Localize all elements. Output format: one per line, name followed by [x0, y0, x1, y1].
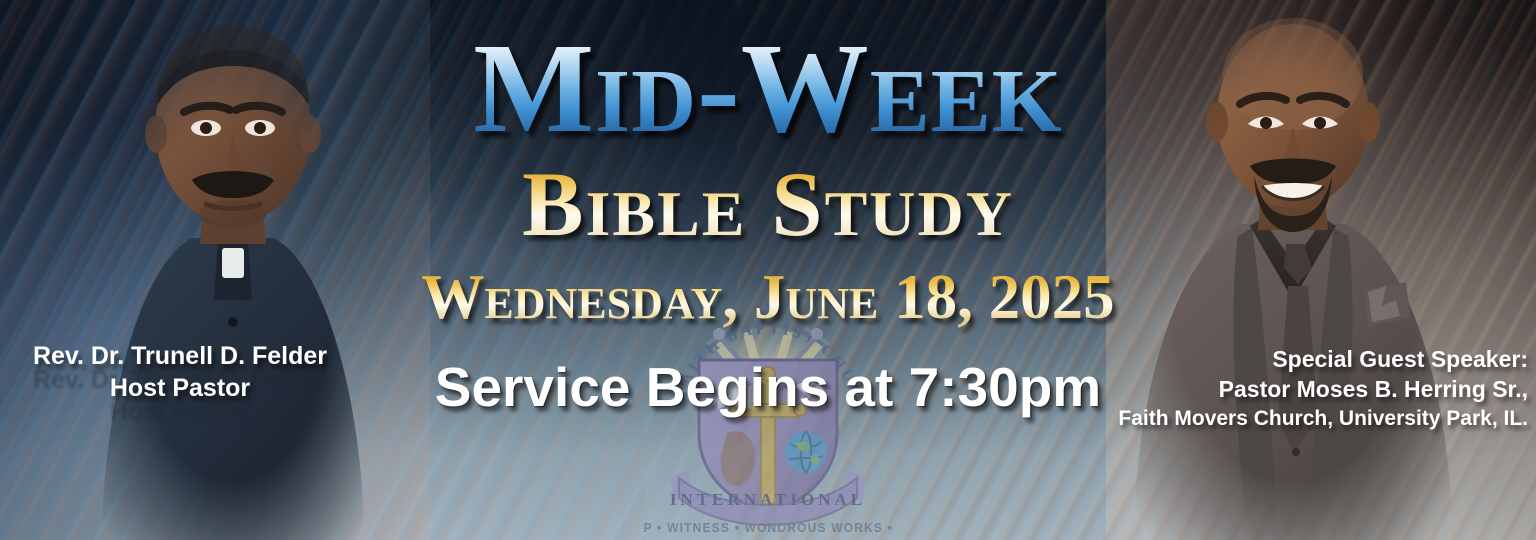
guest-speaker-church: Faith Movers Church, University Park, IL… [1008, 405, 1528, 433]
mid-week-bible-study-banner: FAITH BAPTIST CHURCH [0, 0, 1536, 540]
svg-text:INTERNATIONAL: INTERNATIONAL [670, 490, 866, 509]
host-pastor-caption: Rev. Dr. Trunell D. Felder Host Pastor [0, 340, 360, 404]
headline-bible-study: Bible Study [0, 158, 1536, 250]
host-pastor-role: Host Pastor [0, 372, 360, 404]
seal-tagline: WORSHIP • WITNESS • WONDROUS WORKS • WOR… [643, 521, 893, 536]
headline-mid-week: Mid-Week [0, 24, 1536, 152]
guest-speaker-name: Pastor Moses B. Herring Sr., [1008, 374, 1528, 404]
guest-speaker-label: Special Guest Speaker: [1008, 344, 1528, 374]
guest-speaker-caption: Special Guest Speaker: Pastor Moses B. H… [1008, 344, 1528, 432]
seal-globe [785, 431, 827, 473]
church-seal-logo: FAITH BAPTIST CHURCH [643, 300, 893, 540]
event-date: Wednesday, June 18, 2025 [0, 266, 1536, 329]
host-pastor-name: Rev. Dr. Trunell D. Felder [0, 340, 360, 372]
